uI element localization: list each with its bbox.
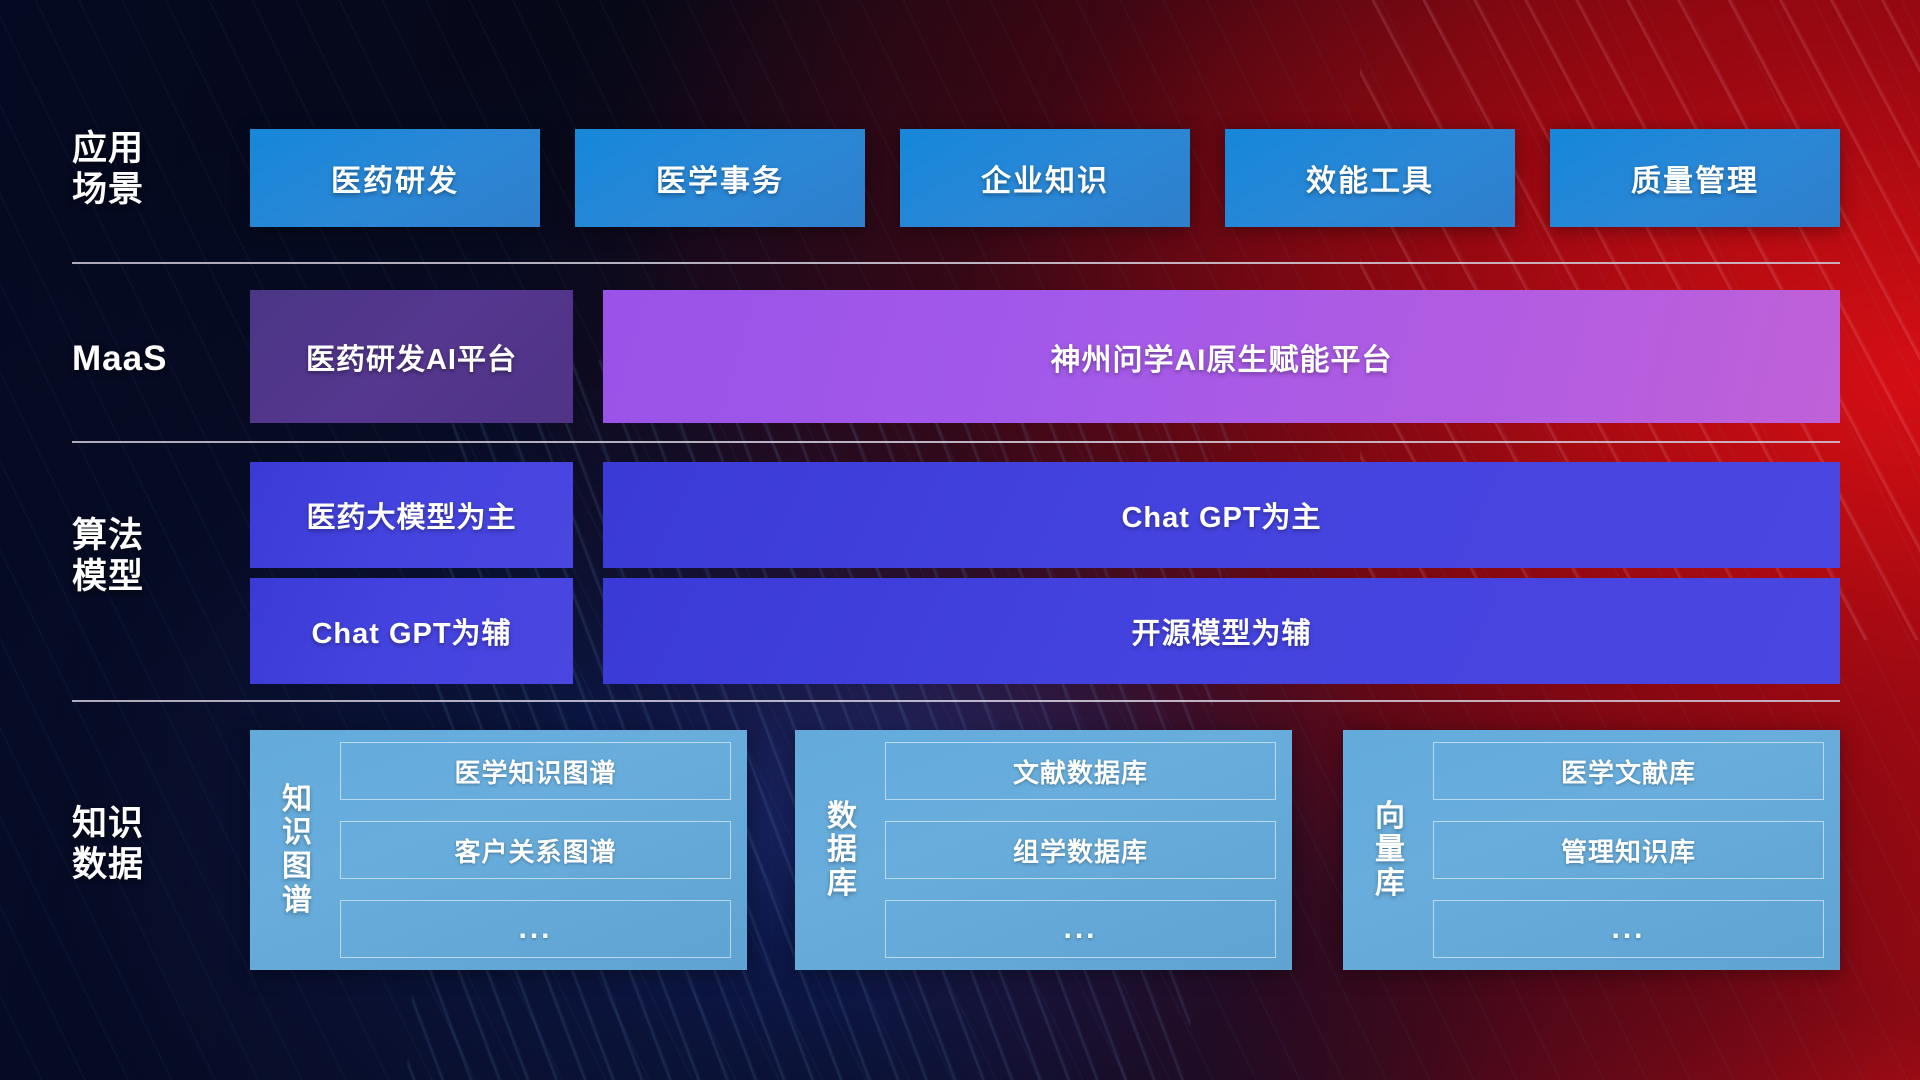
knowledge-group-database[interactable]: 数据 库 文献数据库 组学数据库 ... bbox=[795, 730, 1292, 970]
row-label-algorithm-model: 算法 模型 bbox=[72, 515, 222, 598]
knowledge-item-more-vector-store[interactable]: ... bbox=[1433, 900, 1824, 958]
knowledge-items-knowledge-graph: 医学知识图谱 客户关系图谱 ... bbox=[340, 742, 731, 958]
knowledge-item-more-knowledge-graph[interactable]: ... bbox=[340, 900, 731, 958]
knowledge-item-literature-database[interactable]: 文献数据库 bbox=[885, 742, 1276, 800]
diagram-canvas: 应用 场景 医药研发 医学事务 企业知识 效能工具 质量管理 MaaS 医药研发… bbox=[0, 0, 1920, 1080]
alg-box-chatgpt-secondary[interactable]: Chat GPT为辅 bbox=[250, 578, 573, 684]
app-box-medicine-rd[interactable]: 医药研发 bbox=[250, 129, 540, 227]
maas-box-medicine-rd-ai-platform[interactable]: 医药研发AI平台 bbox=[250, 290, 573, 423]
knowledge-item-customer-relation-graph[interactable]: 客户关系图谱 bbox=[340, 821, 731, 879]
maas-box-shenzhou-wenxue-platform[interactable]: 神州问学AI原生赋能平台 bbox=[603, 290, 1840, 423]
divider-row1 bbox=[72, 262, 1840, 264]
knowledge-items-vector-store: 医学文献库 管理知识库 ... bbox=[1433, 742, 1824, 958]
knowledge-item-medical-literature-store[interactable]: 医学文献库 bbox=[1433, 742, 1824, 800]
alg-box-medicine-large-model-primary[interactable]: 医药大模型为主 bbox=[250, 462, 573, 568]
knowledge-item-medical-knowledge-graph[interactable]: 医学知识图谱 bbox=[340, 742, 731, 800]
divider-row3 bbox=[72, 700, 1840, 702]
app-box-enterprise-knowledge[interactable]: 企业知识 bbox=[900, 129, 1190, 227]
knowledge-group-title-database: 数据 库 bbox=[817, 800, 867, 901]
row-label-knowledge-data: 知识 数据 bbox=[72, 803, 222, 886]
knowledge-item-more-database[interactable]: ... bbox=[885, 900, 1276, 958]
divider-row2 bbox=[72, 441, 1840, 443]
knowledge-item-management-knowledge-store[interactable]: 管理知识库 bbox=[1433, 821, 1824, 879]
knowledge-group-knowledge-graph[interactable]: 知识 图谱 医学知识图谱 客户关系图谱 ... bbox=[250, 730, 747, 970]
app-box-quality-management[interactable]: 质量管理 bbox=[1550, 129, 1840, 227]
app-box-medical-affairs[interactable]: 医学事务 bbox=[575, 129, 865, 227]
app-box-efficiency-tools[interactable]: 效能工具 bbox=[1225, 129, 1515, 227]
row-label-application-scenario: 应用 场景 bbox=[72, 128, 222, 211]
alg-box-opensource-model-secondary[interactable]: 开源模型为辅 bbox=[603, 578, 1840, 684]
knowledge-group-title-knowledge-graph: 知识 图谱 bbox=[272, 783, 322, 917]
knowledge-group-title-vector-store: 向量 库 bbox=[1365, 800, 1415, 901]
knowledge-items-database: 文献数据库 组学数据库 ... bbox=[885, 742, 1276, 958]
knowledge-group-vector-store[interactable]: 向量 库 医学文献库 管理知识库 ... bbox=[1343, 730, 1840, 970]
alg-box-chatgpt-primary[interactable]: Chat GPT为主 bbox=[603, 462, 1840, 568]
knowledge-item-omics-database[interactable]: 组学数据库 bbox=[885, 821, 1276, 879]
row-label-maas: MaaS bbox=[72, 338, 222, 379]
